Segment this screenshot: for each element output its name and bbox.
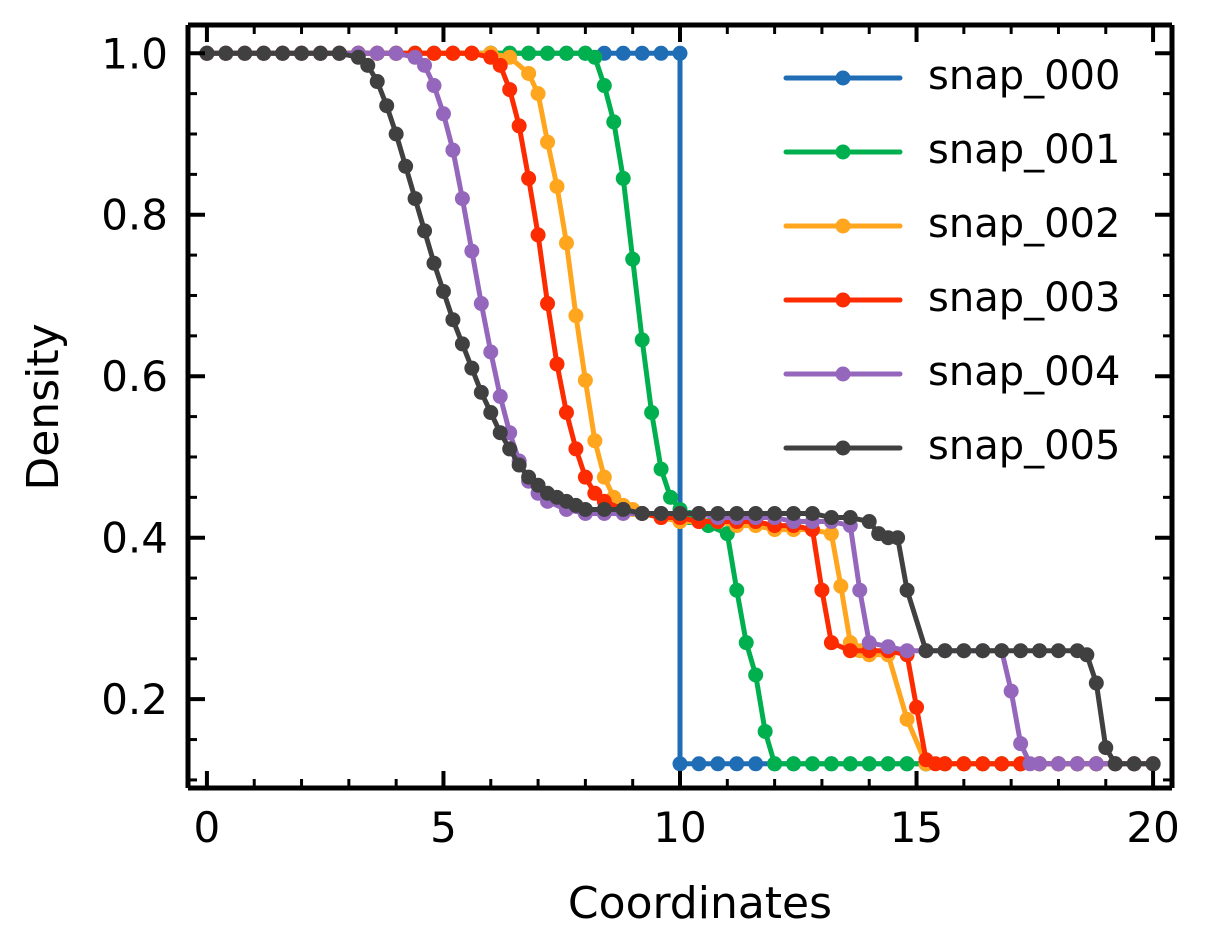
data-point bbox=[568, 308, 583, 323]
data-point bbox=[427, 78, 442, 93]
data-point bbox=[559, 46, 574, 61]
data-point bbox=[881, 756, 896, 771]
data-point bbox=[654, 462, 669, 477]
data-point bbox=[673, 46, 688, 61]
data-point bbox=[559, 236, 574, 251]
data-point bbox=[313, 46, 328, 61]
data-point bbox=[1089, 676, 1104, 691]
data-point bbox=[956, 756, 971, 771]
data-point bbox=[956, 643, 971, 658]
data-point bbox=[616, 502, 631, 517]
data-point bbox=[578, 470, 593, 485]
data-point bbox=[843, 510, 858, 525]
data-point bbox=[540, 46, 555, 61]
data-point bbox=[937, 756, 952, 771]
data-point bbox=[862, 514, 877, 529]
legend-label: snap_000 bbox=[928, 53, 1120, 99]
data-point bbox=[1032, 643, 1047, 658]
data-point bbox=[370, 46, 385, 61]
data-point bbox=[408, 191, 423, 206]
data-point bbox=[597, 78, 612, 93]
data-point bbox=[833, 579, 848, 594]
data-point bbox=[900, 583, 915, 598]
data-point bbox=[852, 583, 867, 598]
data-point bbox=[521, 66, 536, 81]
data-point bbox=[975, 756, 990, 771]
legend-marker-swatch bbox=[836, 219, 851, 234]
data-point bbox=[379, 98, 394, 113]
y-tick-label: 0.2 bbox=[101, 675, 168, 724]
data-point bbox=[824, 635, 839, 650]
data-point bbox=[1070, 756, 1085, 771]
data-point bbox=[691, 756, 706, 771]
data-point bbox=[739, 635, 754, 650]
data-point bbox=[559, 405, 574, 420]
data-point bbox=[474, 296, 489, 311]
x-tick-label: 0 bbox=[194, 803, 221, 852]
data-point bbox=[483, 345, 498, 360]
data-point bbox=[427, 256, 442, 271]
data-point bbox=[994, 643, 1009, 658]
legend-marker-swatch bbox=[836, 71, 851, 86]
x-tick-label: 15 bbox=[890, 803, 943, 852]
data-point bbox=[521, 171, 536, 186]
data-point bbox=[843, 643, 858, 658]
data-point bbox=[1089, 756, 1104, 771]
y-tick-label: 0.4 bbox=[101, 514, 168, 563]
data-point bbox=[691, 506, 706, 521]
data-point bbox=[436, 284, 451, 299]
data-point bbox=[786, 506, 801, 521]
data-point bbox=[748, 506, 763, 521]
data-point bbox=[294, 46, 309, 61]
legend-marker-swatch bbox=[836, 441, 851, 456]
data-point bbox=[1079, 647, 1094, 662]
chart-figure: 051015200.20.40.60.81.0 snap_000snap_001… bbox=[0, 0, 1232, 947]
data-point bbox=[568, 441, 583, 456]
data-point bbox=[805, 506, 820, 521]
data-point bbox=[729, 506, 744, 521]
legend-label: snap_003 bbox=[928, 275, 1120, 321]
data-point bbox=[540, 135, 555, 150]
data-point bbox=[824, 756, 839, 771]
data-point bbox=[767, 756, 782, 771]
data-point bbox=[748, 667, 763, 682]
data-point bbox=[919, 643, 934, 658]
data-point bbox=[862, 756, 877, 771]
legend-label: snap_004 bbox=[928, 349, 1120, 395]
data-point bbox=[654, 46, 669, 61]
data-point bbox=[606, 114, 621, 129]
data-point bbox=[587, 433, 602, 448]
y-tick-label: 0.6 bbox=[101, 352, 168, 401]
data-point bbox=[256, 46, 271, 61]
data-point bbox=[417, 58, 432, 73]
data-point bbox=[455, 336, 470, 351]
data-point bbox=[909, 700, 924, 715]
legend-label: snap_001 bbox=[928, 127, 1120, 173]
data-point bbox=[1146, 756, 1161, 771]
data-point bbox=[464, 361, 479, 376]
data-point bbox=[616, 46, 631, 61]
data-point bbox=[493, 425, 508, 440]
data-point bbox=[729, 583, 744, 598]
data-point bbox=[502, 82, 517, 97]
data-point bbox=[587, 50, 602, 65]
data-point bbox=[389, 46, 404, 61]
data-point bbox=[597, 502, 612, 517]
data-point bbox=[1108, 756, 1123, 771]
data-point bbox=[1127, 756, 1142, 771]
data-point bbox=[436, 106, 451, 121]
data-point bbox=[843, 756, 858, 771]
data-point bbox=[786, 756, 801, 771]
data-point bbox=[531, 227, 546, 242]
data-point bbox=[445, 143, 460, 158]
data-point bbox=[862, 635, 877, 650]
y-axis-title: Density bbox=[18, 323, 69, 490]
data-point bbox=[644, 405, 659, 420]
data-point bbox=[1032, 756, 1047, 771]
data-point bbox=[900, 756, 915, 771]
data-point bbox=[625, 252, 640, 267]
data-point bbox=[237, 46, 252, 61]
data-point bbox=[521, 46, 536, 61]
data-point bbox=[578, 502, 593, 517]
data-point bbox=[389, 127, 404, 142]
x-axis-title: Coordinates bbox=[568, 878, 832, 929]
data-point bbox=[805, 756, 820, 771]
data-point bbox=[464, 46, 479, 61]
x-tick-label: 20 bbox=[1126, 803, 1179, 852]
data-point bbox=[1013, 736, 1028, 751]
data-point bbox=[900, 712, 915, 727]
data-point bbox=[427, 46, 442, 61]
x-tick-label: 10 bbox=[653, 803, 706, 852]
legend-label: snap_002 bbox=[928, 201, 1120, 247]
data-point bbox=[597, 470, 612, 485]
data-point bbox=[512, 458, 527, 473]
data-point bbox=[550, 357, 565, 372]
data-point bbox=[673, 756, 688, 771]
data-point bbox=[758, 724, 773, 739]
data-point bbox=[417, 223, 432, 238]
data-point bbox=[1098, 740, 1113, 755]
data-point bbox=[937, 643, 952, 658]
density-line-chart: 051015200.20.40.60.81.0 snap_000snap_001… bbox=[0, 0, 1232, 947]
legend-marker-swatch bbox=[836, 293, 851, 308]
data-point bbox=[275, 46, 290, 61]
data-point bbox=[370, 74, 385, 89]
data-point bbox=[332, 46, 347, 61]
data-point bbox=[900, 643, 915, 658]
data-point bbox=[502, 441, 517, 456]
data-point bbox=[474, 385, 489, 400]
data-point bbox=[654, 506, 669, 521]
data-point bbox=[710, 506, 725, 521]
data-point bbox=[493, 389, 508, 404]
data-point bbox=[455, 191, 470, 206]
legend-marker-swatch bbox=[836, 145, 851, 160]
data-point bbox=[550, 179, 565, 194]
data-point bbox=[360, 58, 375, 73]
legend-marker-swatch bbox=[836, 367, 851, 382]
data-point bbox=[635, 46, 650, 61]
data-point bbox=[540, 296, 555, 311]
data-point bbox=[814, 583, 829, 598]
legend-label: snap_005 bbox=[928, 423, 1120, 469]
data-point bbox=[994, 756, 1009, 771]
data-point bbox=[512, 118, 527, 133]
data-point bbox=[975, 643, 990, 658]
data-point bbox=[464, 244, 479, 259]
y-tick-label: 1.0 bbox=[101, 29, 168, 78]
data-point bbox=[578, 373, 593, 388]
data-point bbox=[881, 639, 896, 654]
data-point bbox=[493, 58, 508, 73]
data-point bbox=[445, 312, 460, 327]
data-point bbox=[1013, 643, 1028, 658]
y-tick-label: 0.8 bbox=[101, 191, 168, 240]
data-point bbox=[710, 756, 725, 771]
data-point bbox=[635, 506, 650, 521]
data-point bbox=[748, 756, 763, 771]
data-point bbox=[218, 46, 233, 61]
data-point bbox=[824, 510, 839, 525]
data-point bbox=[616, 171, 631, 186]
data-point bbox=[483, 405, 498, 420]
data-point bbox=[890, 530, 905, 545]
data-point bbox=[1051, 643, 1066, 658]
data-point bbox=[445, 46, 460, 61]
data-point bbox=[767, 506, 782, 521]
data-point bbox=[531, 86, 546, 101]
x-tick-label: 5 bbox=[430, 803, 457, 852]
data-point bbox=[635, 332, 650, 347]
data-point bbox=[673, 506, 688, 521]
data-point bbox=[1004, 684, 1019, 699]
data-point bbox=[729, 756, 744, 771]
data-point bbox=[398, 159, 413, 174]
data-point bbox=[1051, 756, 1066, 771]
data-point bbox=[663, 490, 678, 505]
